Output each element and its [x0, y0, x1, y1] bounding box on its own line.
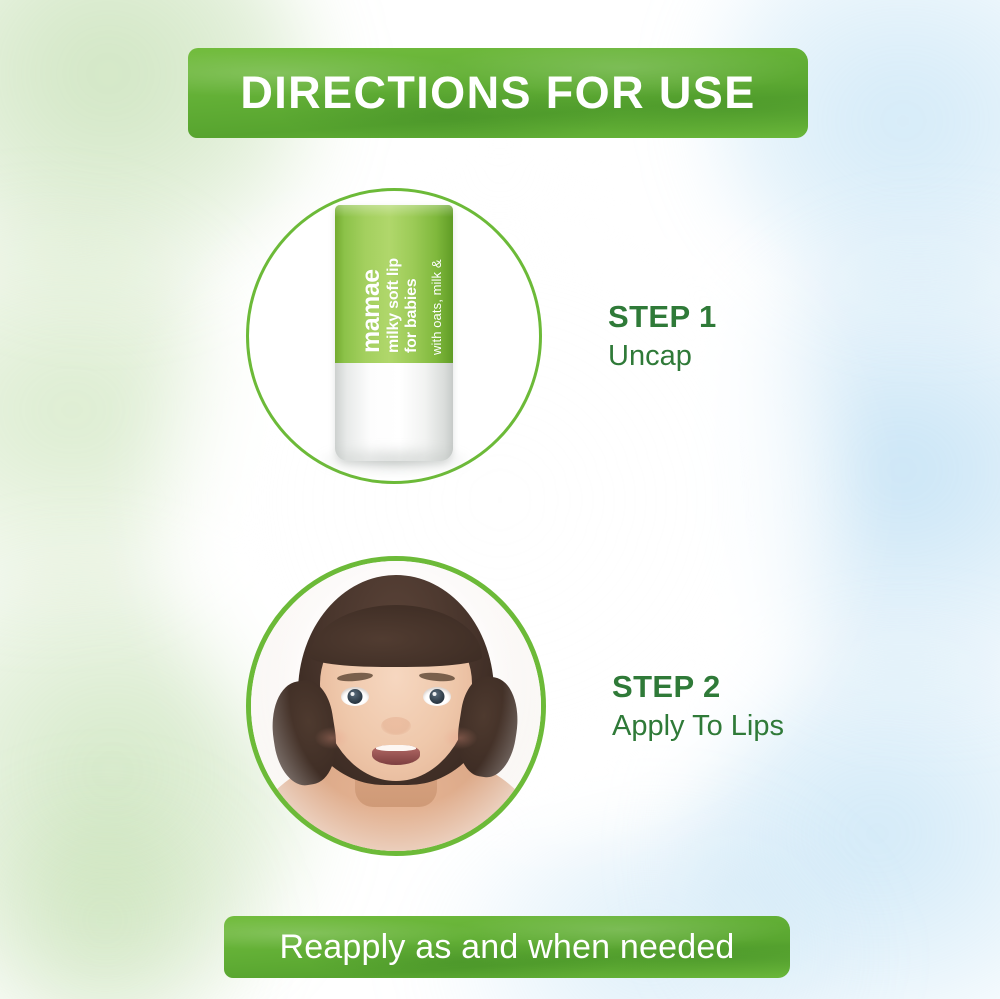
footer-note: Reapply as and when needed	[279, 928, 734, 967]
step-1-label: STEP 1 Uncap	[608, 299, 717, 374]
page-title: DIRECTIONS FOR USE	[240, 67, 755, 119]
step-2-title: STEP 2	[612, 669, 784, 706]
lip-balm-tube: mamae milky soft lip for babies with oat…	[335, 205, 453, 461]
photo-vignette	[251, 561, 541, 851]
green-wash-left-middle	[0, 210, 240, 610]
step-1-image-circle: mamae milky soft lip for babies with oat…	[246, 188, 542, 484]
step-1-title: STEP 1	[608, 299, 717, 336]
step-1-row: mamae milky soft lip for babies with oat…	[246, 188, 717, 484]
header-banner: DIRECTIONS FOR USE	[188, 48, 808, 138]
directions-for-use-poster: DIRECTIONS FOR USE mamae milky soft lip …	[0, 0, 1000, 999]
baby-portrait-photo	[251, 561, 541, 851]
step-2-label: STEP 2 Apply To Lips	[612, 669, 784, 744]
blue-wash-top-right	[710, 0, 1000, 310]
step-2-image-circle	[246, 556, 546, 856]
footer-banner: Reapply as and when needed	[224, 916, 790, 978]
tube-shadow	[319, 447, 469, 473]
step-2-description: Apply To Lips	[612, 709, 784, 743]
step-1-description: Uncap	[608, 339, 717, 373]
tube-body	[335, 205, 453, 461]
tube-green-label-section	[335, 205, 453, 363]
step-2-row: STEP 2 Apply To Lips	[246, 556, 784, 856]
